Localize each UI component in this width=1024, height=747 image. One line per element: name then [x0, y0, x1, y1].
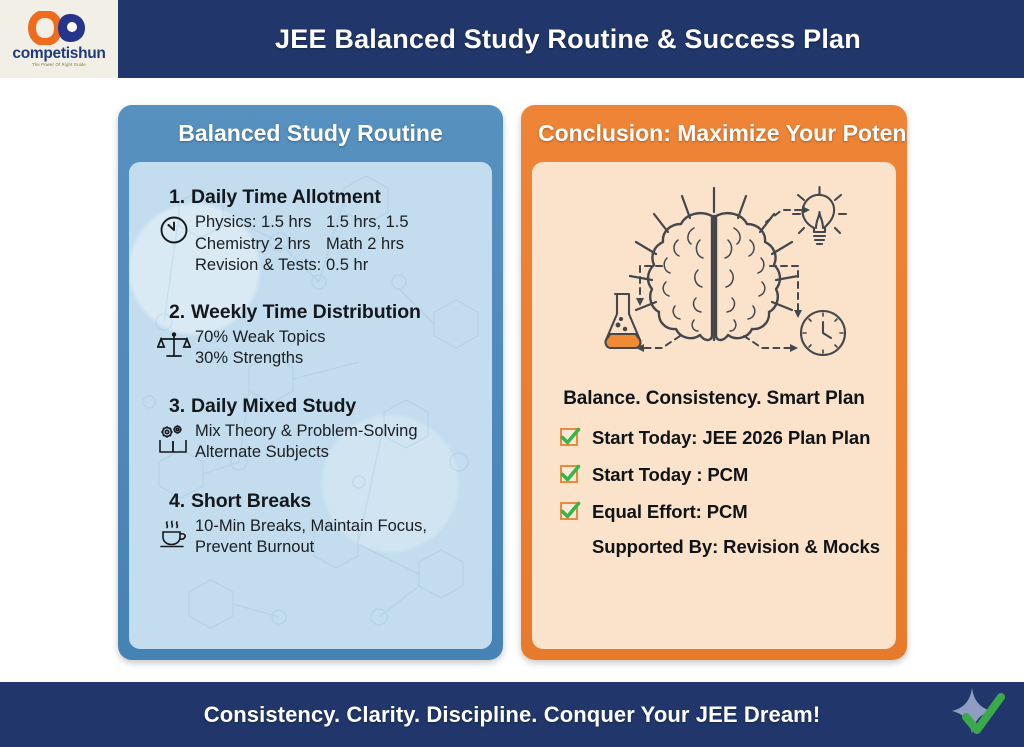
header-bar: JEE Balanced Study Routine & Success Pla… [118, 0, 1024, 78]
left-panel-card: 1. Daily Time Allotment [129, 162, 492, 649]
balanced-study-routine-panel: Balanced Study Routine [118, 105, 503, 660]
infinity-logo-icon [28, 11, 90, 45]
routine-item-4-title: Short Breaks [191, 490, 311, 513]
routine-item-3-title: Daily Mixed Study [191, 395, 356, 418]
routine-item-4-detail: 10-Min Breaks, Maintain Focus, Prevent B… [195, 516, 427, 559]
routine-item-2-title: Weekly Time Distribution [191, 301, 421, 324]
checklist-item[interactable]: Equal Effort: PCM [546, 499, 882, 524]
routine-item-3-detail: Mix Theory & Problem-Solving Alternate S… [195, 421, 418, 464]
routine-item-3-number: 3. [169, 395, 191, 418]
page-footer: Consistency. Clarity. Discipline. Conque… [0, 682, 1024, 747]
checklist-item-label: Start Today : PCM [592, 462, 748, 487]
allotment-r1c1: Physics: 1.5 hrs [195, 212, 326, 234]
routine-list: 1. Daily Time Allotment [129, 162, 492, 649]
routine-item-4: 4. Short Breaks [145, 490, 476, 559]
breaks-line-1: 10-Min Breaks, Maintain Focus, [195, 516, 427, 538]
allotment-r2c2: Math 2 hrs [326, 234, 404, 256]
logo-wordmark: competishun [12, 46, 105, 62]
routine-item-1: 1. Daily Time Allotment [145, 186, 476, 277]
conclusion-panel: Conclusion: Maximize Your Potential [521, 105, 907, 660]
routine-item-3-heading: 3. Daily Mixed Study [169, 395, 476, 418]
conclusion-footer-note: Supported By: Revision & Mocks [546, 536, 882, 558]
routine-item-1-detail: Physics: 1.5 hrs 1.5 hrs, 1.5 Chemistry … [195, 212, 409, 277]
allotment-r1c2: 1.5 hrs, 1.5 [326, 212, 409, 234]
book-gears-icon [153, 421, 195, 456]
footer-tagline: Consistency. Clarity. Discipline. Conque… [204, 702, 821, 728]
brain-ideas-illustration [532, 166, 896, 384]
conclusion-checklist: Balance. Consistency. Smart Plan Start T… [532, 388, 896, 558]
checkmark-icon [559, 426, 581, 448]
brand-logo[interactable]: competishun The Power Of Right Guide [0, 0, 118, 78]
right-panel-title: Conclusion: Maximize Your Potential [521, 105, 907, 161]
breaks-line-2: Prevent Burnout [195, 537, 427, 559]
logo-tagline: The Power Of Right Guide [32, 63, 86, 67]
mixed-line-2: Alternate Subjects [195, 442, 418, 464]
allotment-r2c1: Chemistry 2 hrs [195, 234, 326, 256]
routine-item-1-number: 1. [169, 186, 191, 209]
checklist-item[interactable]: Start Today : PCM [546, 462, 882, 487]
slide-body: Balanced Study Routine [0, 78, 1024, 678]
right-panel-card: Balance. Consistency. Smart Plan Start T… [532, 162, 896, 649]
page-header: competishun The Power Of Right Guide JEE… [0, 0, 1024, 78]
routine-item-1-title: Daily Time Allotment [191, 186, 381, 209]
checklist-item-label: Start Today: JEE 2026 Plan Plan [592, 425, 870, 450]
weekly-line-2: 30% Strengths [195, 348, 326, 370]
star-check-badge [944, 685, 1006, 745]
page-title: JEE Balanced Study Routine & Success Pla… [275, 24, 861, 55]
checklist-item-label: Equal Effort: PCM [592, 499, 748, 524]
allotment-r3c1: Revision & Tests: [195, 255, 326, 277]
allotment-r3c2: 0.5 hr [326, 255, 368, 277]
checkmark-icon [559, 463, 581, 485]
balance-scale-icon [153, 327, 195, 360]
routine-item-3: 3. Daily Mixed Study [145, 395, 476, 464]
conclusion-tagline: Balance. Consistency. Smart Plan [546, 388, 882, 410]
mixed-line-1: Mix Theory & Problem-Solving [195, 421, 418, 443]
left-panel-title: Balanced Study Routine [118, 105, 503, 161]
checkmark-icon [559, 500, 581, 522]
clock-icon [153, 212, 195, 245]
checklist-item[interactable]: Start Today: JEE 2026 Plan Plan [546, 425, 882, 450]
routine-item-4-number: 4. [169, 490, 191, 513]
routine-item-4-heading: 4. Short Breaks [169, 490, 476, 513]
routine-item-2: 2. Weekly Time Distribution [145, 301, 476, 370]
routine-item-2-detail: 70% Weak Topics 30% Strengths [195, 327, 326, 370]
weekly-line-1: 70% Weak Topics [195, 327, 326, 349]
routine-item-2-heading: 2. Weekly Time Distribution [169, 301, 476, 324]
coffee-cup-icon [153, 516, 195, 549]
routine-item-1-heading: 1. Daily Time Allotment [169, 186, 476, 209]
routine-item-2-number: 2. [169, 301, 191, 324]
